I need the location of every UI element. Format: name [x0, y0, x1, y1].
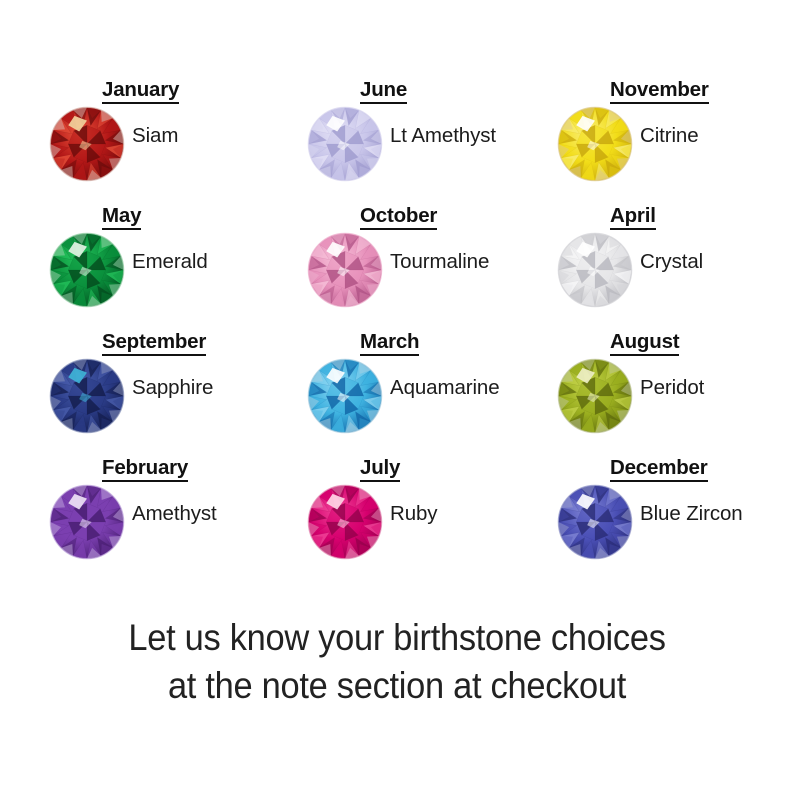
- stone-name: Sapphire: [132, 376, 213, 400]
- stone-name: Siam: [132, 124, 178, 148]
- month-label-text: December: [610, 456, 708, 482]
- month-label: December: [610, 456, 708, 480]
- round-brilliant-gem-icon: [306, 357, 384, 435]
- month-label-text: June: [360, 78, 407, 104]
- round-brilliant-gem-icon: [306, 231, 384, 309]
- caption-text: Let us know your birthstone choices at t…: [0, 614, 794, 710]
- round-brilliant-gem-icon: [306, 483, 384, 561]
- birthstone-cell[interactable]: JulyRuby: [294, 456, 544, 582]
- birthstone-cell[interactable]: MayEmerald: [36, 204, 294, 330]
- month-label-text: September: [102, 330, 206, 356]
- month-label: October: [360, 204, 437, 228]
- month-label: September: [102, 330, 206, 354]
- stone-name: Crystal: [640, 250, 703, 274]
- round-brilliant-gem-icon: [48, 105, 126, 183]
- month-label-text: May: [102, 204, 141, 230]
- month-label: July: [360, 456, 400, 480]
- stone-name: Amethyst: [132, 502, 217, 526]
- month-label-text: July: [360, 456, 400, 482]
- month-label-text: November: [610, 78, 709, 104]
- round-brilliant-gem-icon: [306, 105, 384, 183]
- birthstone-cell[interactable]: NovemberCitrine: [544, 78, 794, 204]
- month-label-text: October: [360, 204, 437, 230]
- round-brilliant-gem-icon: [556, 231, 634, 309]
- month-label: January: [102, 78, 179, 102]
- stone-name: Citrine: [640, 124, 699, 148]
- month-label-text: August: [610, 330, 679, 356]
- month-label-text: April: [610, 204, 656, 230]
- stone-name: Blue Zircon: [640, 502, 743, 526]
- round-brilliant-gem-icon: [556, 483, 634, 561]
- stone-name: Emerald: [132, 250, 208, 274]
- birthstone-cell[interactable]: OctoberTourmaline: [294, 204, 544, 330]
- round-brilliant-gem-icon: [48, 231, 126, 309]
- stone-name: Peridot: [640, 376, 704, 400]
- month-label: March: [360, 330, 419, 354]
- stone-name: Lt Amethyst: [390, 124, 496, 148]
- birthstone-cell[interactable]: SeptemberSapphire: [36, 330, 294, 456]
- birthstone-cell[interactable]: MarchAquamarine: [294, 330, 544, 456]
- round-brilliant-gem-icon: [48, 357, 126, 435]
- birthstone-cell[interactable]: AugustPeridot: [544, 330, 794, 456]
- round-brilliant-gem-icon: [48, 483, 126, 561]
- birthstone-chart: JanuarySiamJuneLt AmethystNovemberCitrin…: [0, 78, 794, 582]
- month-label: February: [102, 456, 188, 480]
- round-brilliant-gem-icon: [556, 105, 634, 183]
- birthstone-cell[interactable]: JuneLt Amethyst: [294, 78, 544, 204]
- stone-name: Aquamarine: [390, 376, 500, 400]
- birthstone-grid: JanuarySiamJuneLt AmethystNovemberCitrin…: [0, 78, 794, 582]
- month-label: April: [610, 204, 656, 228]
- month-label: May: [102, 204, 141, 228]
- caption-line-2: at the note section at checkout: [28, 662, 766, 710]
- birthstone-cell[interactable]: FebruaryAmethyst: [36, 456, 294, 582]
- month-label-text: February: [102, 456, 188, 482]
- stone-name: Ruby: [390, 502, 437, 526]
- month-label: June: [360, 78, 407, 102]
- stone-name: Tourmaline: [390, 250, 489, 274]
- caption-line-1: Let us know your birthstone choices: [28, 614, 766, 662]
- month-label: August: [610, 330, 679, 354]
- month-label-text: March: [360, 330, 419, 356]
- month-label: November: [610, 78, 709, 102]
- birthstone-cell[interactable]: AprilCrystal: [544, 204, 794, 330]
- month-label-text: January: [102, 78, 179, 104]
- round-brilliant-gem-icon: [556, 357, 634, 435]
- birthstone-cell[interactable]: JanuarySiam: [36, 78, 294, 204]
- birthstone-cell[interactable]: DecemberBlue Zircon: [544, 456, 794, 582]
